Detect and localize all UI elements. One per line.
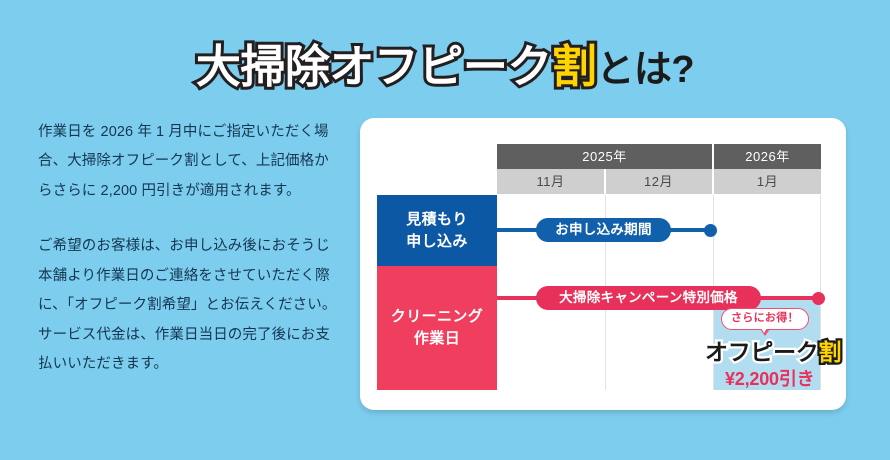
description-paragraph-1: 作業日を 2026 年 1 月中にご指定いただく場合、大掃除オフピーク割として、… (38, 118, 338, 206)
page-title-main: 大掃除オフピーク (196, 41, 552, 92)
extra-savings-badge: さらにお得！ (721, 308, 809, 330)
row-label-cleaning-line2: 作業日 (414, 328, 460, 350)
year-header-2025: 2025年 (497, 144, 712, 169)
page-title: 大掃除オフピーク割とは? (0, 44, 890, 89)
offpeak-discount-name-main: オフピーク (705, 339, 819, 365)
month-separator-2 (712, 169, 714, 194)
row-label-estimate-line1: 見積もり (406, 209, 468, 231)
month-header-jan: 1月 (714, 169, 821, 194)
month-header-nov: 11月 (497, 169, 604, 194)
month-separator-1 (604, 169, 606, 194)
offpeak-discount-amount: ¥2,200引き (725, 370, 814, 388)
timeline-pill-application: お申し込み期間 (536, 218, 671, 242)
offpeak-discount-name: オフピーク割 (705, 341, 841, 364)
row-label-cleaning-workday: クリーニング 作業日 (377, 266, 497, 390)
description-block: 作業日を 2026 年 1 月中にご指定いただく場合、大掃除オフピーク割として、… (38, 118, 338, 379)
schedule-card: 2025年 2026年 11月 12月 1月 見積もり 申し込み クリーニング … (360, 118, 846, 410)
timeline-dot-campaign-end (812, 292, 825, 305)
page-title-tail: とは? (596, 49, 694, 91)
timeline-dot-application-end (704, 224, 717, 237)
offpeak-discount-name-highlight: 割 (819, 339, 842, 365)
schedule-chart: 2025年 2026年 11月 12月 1月 見積もり 申し込み クリーニング … (360, 118, 846, 410)
page-title-highlight: 割 (552, 41, 597, 92)
row-label-estimate-application: 見積もり 申し込み (377, 195, 497, 266)
row-label-estimate-line2: 申し込み (406, 231, 468, 253)
description-paragraph-2: ご希望のお客様は、お申し込み後におそうじ本舗より作業日のご連絡をさせていただく際… (38, 232, 338, 320)
row-label-cleaning-line1: クリーニング (391, 306, 483, 328)
year-header-2026: 2026年 (714, 144, 821, 169)
year-separator (712, 144, 714, 169)
month-header-dec: 12月 (605, 169, 712, 194)
timeline-pill-campaign: 大掃除キャンペーン特別価格 (536, 286, 761, 310)
description-paragraph-3: サービス代金は、作業日当日の完了後にお支払いいただきます。 (38, 321, 338, 380)
